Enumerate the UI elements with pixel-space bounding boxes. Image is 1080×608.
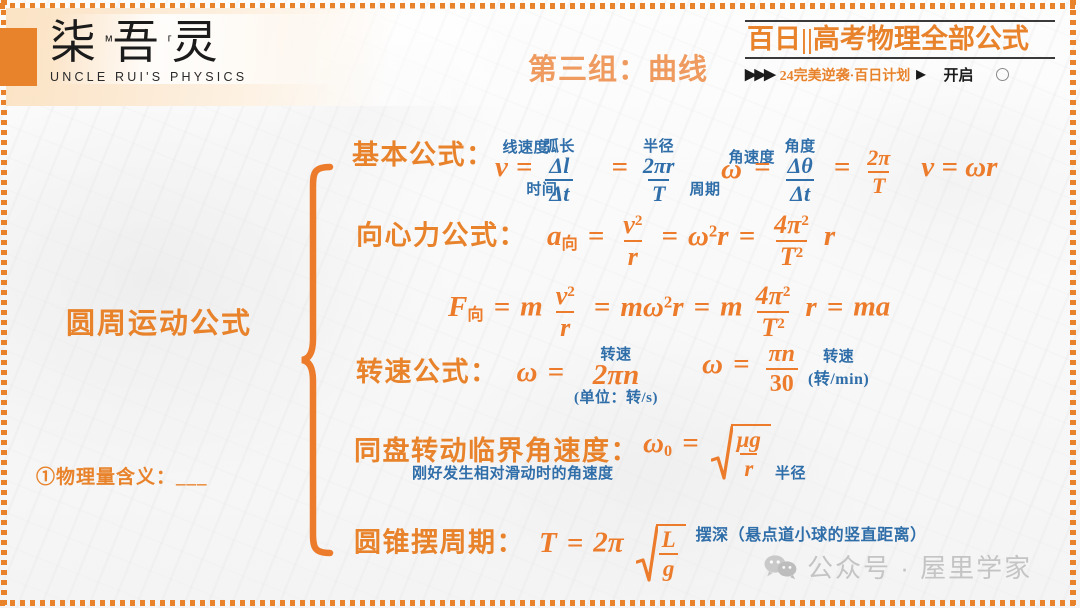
watermark: 公众号 · 屋里学家 — [764, 548, 1032, 585]
frac-denominator-dt-2: Δt — [786, 179, 814, 205]
formula-row-critical-omega: 同盘转动临界角速度： 刚好发生相对滑动时的角速度 ω0 = μg r 半径 — [354, 432, 808, 488]
frac-4pi2-T2-force: 4π2 T2 — [752, 283, 795, 341]
frac-denominator-r: r — [624, 240, 642, 270]
frac-denominator-T2-f: T2 — [757, 311, 788, 341]
expr-omega0: ω0 — [643, 427, 672, 459]
expr-eq-f4: = — [827, 291, 844, 323]
four-pi-exponent-f: 2 — [783, 284, 791, 300]
expr-eq-a2: = — [661, 220, 678, 252]
frac-numerator-pin: πn — [765, 342, 799, 368]
anno-unit-2: (转/min) — [808, 372, 869, 389]
expr-F-subscript: 向 — [467, 306, 483, 324]
critical-label-group: 同盘转动临界角速度： 刚好发生相对滑动时的角速度 — [354, 437, 639, 482]
frac-numerator-4pi2: 4π2 — [770, 212, 813, 240]
formula-row-basic: 基本公式： 线速度 v = 弧长 Δl Δt 时间 = 半径 2πr T 周期 … — [352, 128, 1023, 193]
frac-v2-r: v2 r — [619, 212, 646, 270]
logo-english-text: UNCLE RUI'S PHYSICS — [50, 70, 230, 84]
frac-denominator-g: g — [659, 553, 679, 580]
frac-dtheta-dt: Δθ Δt — [784, 155, 817, 205]
frac-numerator-mug: μg — [733, 428, 765, 453]
expr-omega-rot2: ω — [702, 348, 723, 380]
frac-mug-r: μg r — [733, 428, 765, 480]
expr-m2: m — [720, 291, 743, 323]
frac-v2-r-force: v2 r — [552, 283, 579, 341]
formula-label-rotational: 转速公式： — [356, 357, 499, 387]
expr-eq-cone: = — [567, 527, 584, 559]
radical-sign-icon — [711, 424, 731, 480]
expr-eq-crit: = — [682, 427, 699, 459]
expr-v-eq-omega-r: v = ωr — [921, 151, 997, 183]
expr-2pi-cone: 2π — [593, 527, 623, 559]
formula-row-centripetal-force: F向 = m v2 r = mω2r = m 4π2 T2 r = ma — [448, 283, 890, 341]
omega0-subscript: 0 — [664, 442, 672, 460]
formula-row-rotational-speed: 转速公式： ω = 转速 2πn (单位：转/s) ω = πn 30 转速 (… — [356, 348, 869, 407]
expr-omega-rot1: ω — [517, 356, 538, 388]
course-subtitle-row: ▶▶▶ 24完美逆袭·百日计划 ▶ 开启 — [745, 64, 1055, 85]
dashed-border-right — [1070, 0, 1076, 608]
formula-label-conical: 圆锥摆周期： — [354, 528, 525, 558]
omega0-symbol: ω — [643, 427, 664, 459]
expr-a: a向 — [547, 220, 578, 252]
formula-row-centripetal-accel: 向心力公式： a向 = v2 r = ω2r = 4π2 T2 r — [356, 212, 835, 270]
formula-label-centripetal: 向心力公式： — [356, 221, 527, 251]
m-omega-exponent: 2 — [664, 292, 672, 311]
expr-omega2r: ω2r — [688, 220, 729, 252]
frac-2pir-T: 2πr T — [639, 155, 679, 205]
course-subtitle-text: 24完美逆袭·百日计划 — [780, 65, 911, 85]
radical-L-over-g: L g — [636, 524, 686, 580]
v-symbol: v — [623, 210, 635, 239]
group-title: 第三组：曲线 — [528, 46, 708, 88]
expr-a-symbol: a — [547, 220, 562, 252]
r-symbol: r — [717, 220, 728, 252]
expr-T-period: T — [539, 527, 557, 559]
brand-logo: 柒м吾г灵 UNCLE RUI'S PHYSICS — [50, 18, 230, 84]
expr-m1: m — [520, 291, 543, 323]
anno-time: 时间 — [526, 182, 557, 198]
frac-numerator-v2-f: v2 — [552, 283, 579, 311]
watermark-text: 公众号 · 屋里学家 — [807, 548, 1032, 585]
T-symbol-f: T — [761, 313, 777, 342]
frac-numerator-dtheta: Δθ — [784, 155, 817, 179]
logo-superscript-1: м — [105, 33, 113, 45]
expr-tail-r: r — [824, 220, 835, 252]
frac-L-g: L g — [658, 528, 680, 580]
logo-char-3: 灵 — [172, 16, 227, 68]
logo-square-mark — [0, 28, 37, 86]
logo-char-1: 柒 — [50, 16, 105, 68]
frac-numerator-2pi: 2π — [863, 147, 894, 171]
m-omega-symbol: mω — [620, 291, 664, 323]
radical-content-2: L g — [656, 524, 686, 580]
logo-char-2: 吾 — [113, 16, 168, 68]
expr-eq-a3: = — [739, 220, 756, 252]
expr-eq-1: = — [516, 151, 533, 183]
anno-critical-meaning: 刚好发生相对滑动时的角速度 — [412, 467, 614, 483]
anno-rot2-group: 转速 (转/min) — [808, 350, 869, 389]
formula-label-critical: 同盘转动临界角速度： — [354, 437, 639, 465]
triple-play-icon: ▶▶▶ — [745, 65, 774, 84]
expr-v: v — [495, 151, 508, 183]
v-exponent-f: 2 — [567, 284, 575, 300]
frac-numerator-2pir: 2πr — [639, 155, 679, 179]
v-symbol-f: v — [556, 281, 568, 310]
curly-brace — [300, 163, 334, 557]
section-note: ①物理量含义：___ — [36, 462, 208, 489]
T-symbol: T — [780, 242, 796, 271]
frac-denominator-T: T — [648, 179, 669, 205]
anno-rev-speed-2: 转速 — [823, 350, 854, 366]
expr-eq-rot2: = — [733, 348, 750, 380]
four-pi-symbol: 4π — [774, 210, 801, 239]
play-arrow-icon: ▶ — [916, 67, 925, 82]
T-exponent-f: 2 — [777, 316, 785, 332]
expr-eq-f2: = — [594, 291, 611, 323]
anno-period: 周期 — [689, 182, 720, 198]
expr-tail-r-f: r — [805, 291, 816, 323]
expr-F: F向 — [448, 291, 484, 323]
expr-F-symbol: F — [448, 291, 467, 323]
slide-canvas: 柒м吾г灵 UNCLE RUI'S PHYSICS 第三组：曲线 百日||高考物… — [0, 0, 1080, 608]
frac-dtheta-dt-group: 角度 Δθ Δt — [779, 140, 822, 205]
m-omega-r: r — [672, 291, 683, 323]
expr-a-subscript: 向 — [562, 235, 578, 253]
header-rule-bottom — [745, 57, 1055, 59]
frac-numerator-L: L — [658, 528, 680, 553]
frac-denominator-r-f: r — [556, 311, 574, 341]
radical-content: μg r — [731, 424, 771, 480]
expr-eq-3: = — [754, 151, 771, 183]
four-pi-symbol-f: 4π — [756, 281, 783, 310]
expr-ma: ma — [853, 291, 890, 323]
frac-numerator-v2: v2 — [619, 212, 646, 240]
frac-pin-30: πn 30 — [765, 342, 799, 396]
four-pi-exponent: 2 — [801, 213, 809, 229]
radical-sign-icon-2 — [636, 524, 656, 580]
expr-eq-f1: = — [494, 291, 511, 323]
anno-unit-1: (单位：转/s) — [574, 391, 658, 407]
expr-eq-a1: = — [588, 220, 605, 252]
frac-4pi2-T2: 4π2 T2 — [770, 212, 813, 270]
expr-eq-rot1: = — [547, 356, 564, 388]
anno-pendulum-depth: 摆深（悬点道小球的竖直距离） — [696, 527, 927, 544]
frac-denominator-30: 30 — [766, 368, 798, 396]
expr-eq-f3: = — [694, 291, 711, 323]
expr-2pin-group: 转速 2πn (单位：转/s) — [574, 348, 658, 407]
dashed-border-bottom — [0, 600, 1080, 606]
frac-numerator-4pi2-f: 4π2 — [752, 283, 795, 311]
open-label[interactable]: 开启 — [944, 64, 974, 85]
frac-2pi-T: 2π T — [863, 147, 894, 197]
expr-2pin: 2πn — [593, 360, 639, 390]
section-title: 圆周运动公式 — [66, 300, 252, 342]
logo-chinese-text: 柒м吾г灵 — [50, 18, 230, 66]
frac-denominator-T-2: T — [868, 171, 889, 197]
course-title: 百日||高考物理全部公式 — [745, 22, 1055, 57]
expr-m-omega2-r: mω2r — [620, 291, 683, 323]
expr-eq-4: = — [834, 151, 851, 183]
wechat-icon — [764, 554, 798, 580]
header-right-block: 百日||高考物理全部公式 ▶▶▶ 24完美逆袭·百日计划 ▶ 开启 — [745, 20, 1055, 85]
T-exponent: 2 — [796, 245, 804, 261]
expr-omega: ω — [721, 153, 742, 185]
frac-2pir-T-group: 半径 2πr T — [634, 140, 684, 205]
anno-radius-2: 半径 — [775, 466, 806, 482]
circle-icon[interactable] — [996, 68, 1009, 81]
expr-eq-2: = — [611, 151, 628, 183]
radical-mu-g-over-r: μg r — [711, 424, 771, 480]
v-exponent: 2 — [635, 213, 643, 229]
frac-numerator-dl: Δl — [545, 155, 573, 179]
formula-label-basic: 基本公式： — [352, 140, 495, 170]
frac-denominator-T2: T2 — [776, 240, 807, 270]
frac-denominator-r-crit: r — [740, 453, 757, 480]
omega-symbol: ω — [688, 220, 709, 252]
